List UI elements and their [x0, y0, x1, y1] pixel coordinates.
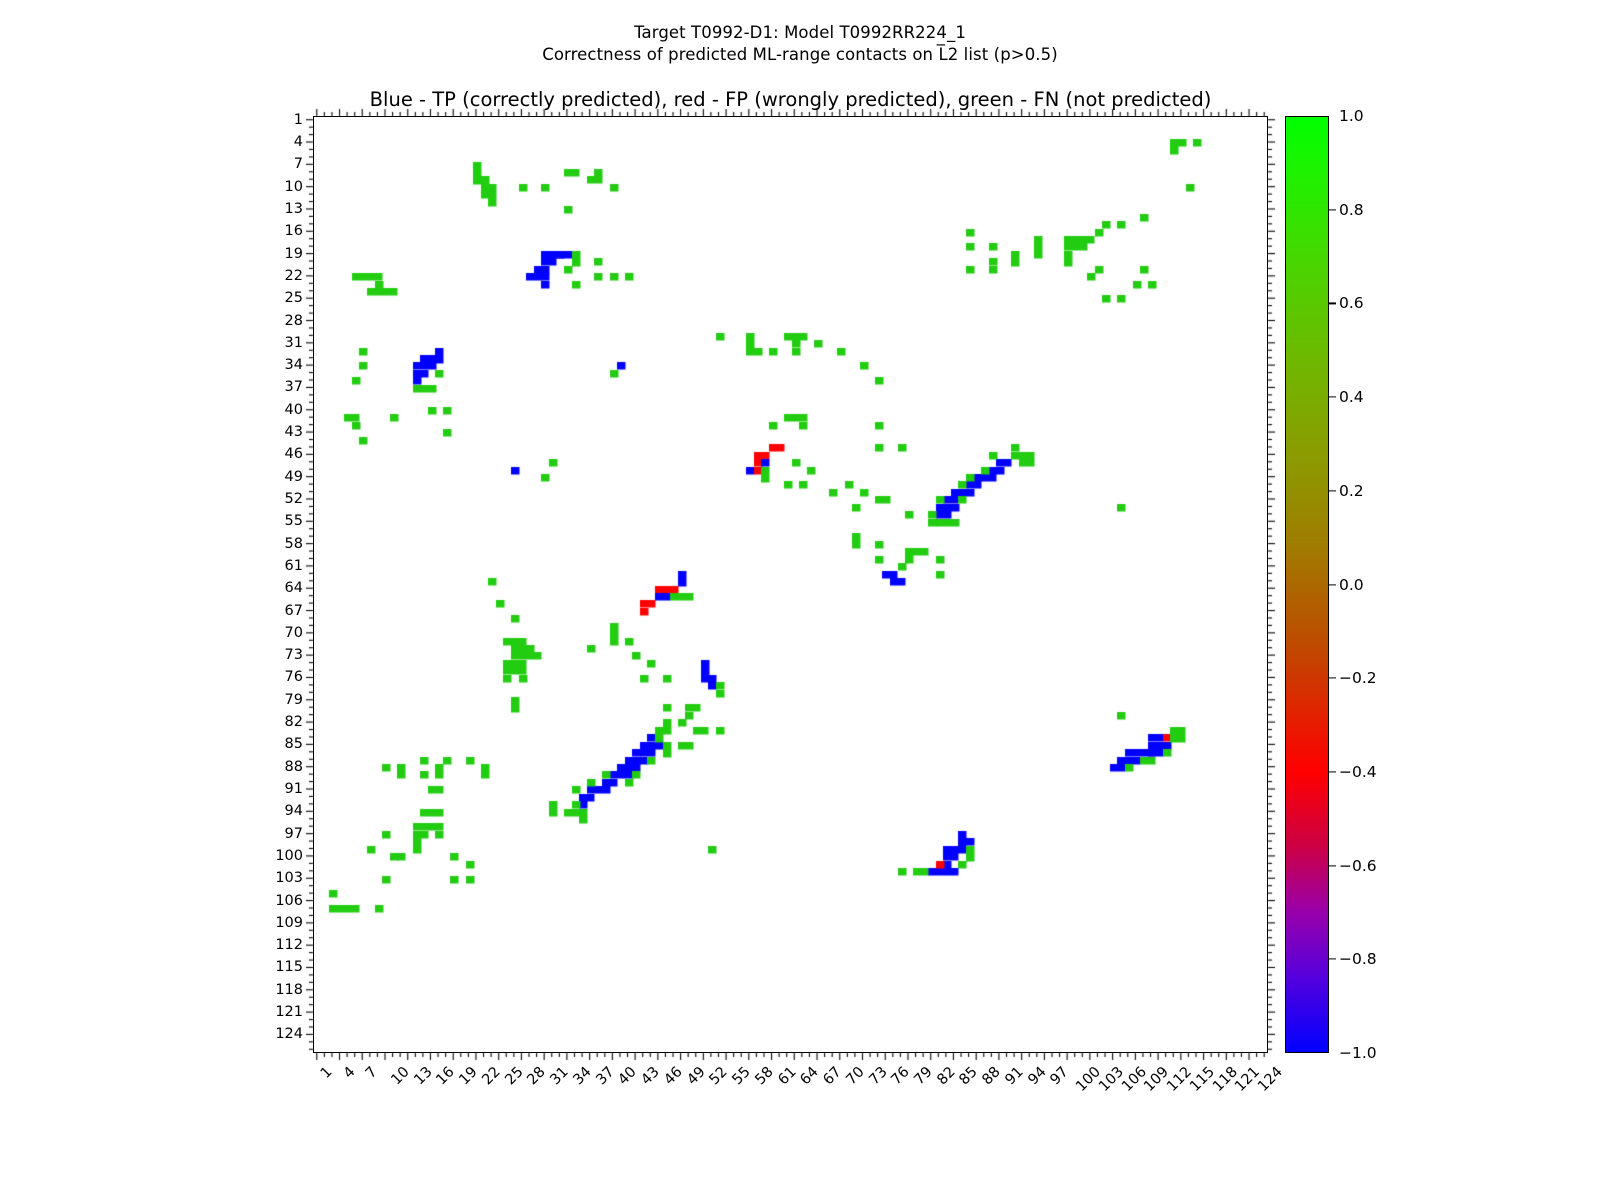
y-tick-label: 88: [285, 759, 303, 775]
colorbar-tick-mark: [1329, 209, 1336, 210]
x-tick-label: 46: [661, 1064, 685, 1088]
x-tick-label: 1: [317, 1064, 335, 1082]
colorbar-tick-mark: [1329, 397, 1336, 398]
x-tick-label: 49: [684, 1064, 708, 1088]
colorbar-tick-label: −0.6: [1339, 857, 1377, 875]
axes-legend-title: Blue - TP (correctly predicted), red - F…: [313, 88, 1268, 111]
x-tick-label: 55: [729, 1064, 753, 1088]
y-tick-label: 79: [285, 692, 303, 708]
y-tick-label: 4: [294, 134, 303, 150]
y-tick-label: 121: [275, 1004, 303, 1020]
x-tick-label: 61: [775, 1064, 799, 1088]
x-tick-label: 82: [934, 1064, 958, 1088]
y-tick-label: 7: [294, 156, 303, 172]
y-tick-label: 40: [285, 402, 303, 418]
x-tick-label: 52: [707, 1064, 731, 1088]
colorbar-tick-label: 1.0: [1339, 107, 1364, 125]
colorbar-tick-mark: [1329, 303, 1336, 304]
x-tick-label: 88: [980, 1064, 1004, 1088]
x-tick-label: 58: [752, 1064, 776, 1088]
y-tick-label: 82: [285, 714, 303, 730]
y-tick-label: 64: [285, 580, 303, 596]
x-tick-label: 28: [525, 1064, 549, 1088]
x-tick-label: 79: [911, 1064, 935, 1088]
y-tick-label: 58: [285, 536, 303, 552]
x-tick-label: 7: [363, 1064, 381, 1082]
x-tick-label: 76: [889, 1064, 913, 1088]
x-tick-label: 124: [1255, 1064, 1286, 1095]
y-tick-label: 103: [275, 870, 303, 886]
x-tick-label: 91: [1002, 1064, 1026, 1088]
y-tick-label: 10: [285, 179, 303, 195]
y-tick-label: 55: [285, 513, 303, 529]
colorbar-tick-mark: [1329, 865, 1336, 866]
colorbar-tick-label: 0.8: [1339, 201, 1364, 219]
y-tick-label: 1: [294, 112, 303, 128]
contact-map-plot-area[interactable]: [313, 116, 1268, 1053]
x-tick-label: 97: [1048, 1064, 1072, 1088]
x-tick-label: 37: [593, 1064, 617, 1088]
colorbar-tick-mark: [1329, 959, 1336, 960]
x-tick-label: 70: [843, 1064, 867, 1088]
y-tick-label: 61: [285, 558, 303, 574]
colorbar-tick-mark: [1329, 584, 1336, 585]
x-tick-label: 19: [457, 1064, 481, 1088]
x-tick-label: 22: [479, 1064, 503, 1088]
y-tick-label: 100: [275, 848, 303, 864]
y-tick-label: 49: [285, 469, 303, 485]
y-tick-label: 73: [285, 647, 303, 663]
colorbar-tick-label: 0.4: [1339, 388, 1364, 406]
colorbar-tick-mark: [1329, 678, 1336, 679]
y-tick-label: 37: [285, 379, 303, 395]
y-tick-label: 34: [285, 357, 303, 373]
y-tick-label: 115: [275, 959, 303, 975]
contact-map-canvas[interactable]: [314, 117, 1269, 1054]
y-tick-label: 28: [285, 313, 303, 329]
colorbar: [1285, 116, 1329, 1053]
x-tick-label: 34: [570, 1064, 594, 1088]
x-tick-label: 31: [548, 1064, 572, 1088]
colorbar-tick-label: 0.0: [1339, 576, 1364, 594]
y-tick-label: 16: [285, 223, 303, 239]
colorbar-tick-mark: [1329, 490, 1336, 491]
figure-title: Target T0992-D1: Model T0992RR224_1 Corr…: [0, 22, 1600, 66]
y-tick-label: 22: [285, 268, 303, 284]
x-tick-label: 16: [434, 1064, 458, 1088]
y-tick-label: 118: [275, 982, 303, 998]
y-tick-label: 109: [275, 915, 303, 931]
x-tick-label: 94: [1025, 1064, 1049, 1088]
y-tick-label: 13: [285, 201, 303, 217]
x-tick-label: 73: [866, 1064, 890, 1088]
colorbar-tick-label: −1.0: [1339, 1044, 1377, 1062]
y-tick-label: 124: [275, 1026, 303, 1042]
x-tick-label: 13: [411, 1064, 435, 1088]
y-tick-label: 43: [285, 424, 303, 440]
colorbar-tick-label: −0.2: [1339, 669, 1377, 687]
y-tick-label: 94: [285, 803, 303, 819]
y-tick-label: 19: [285, 246, 303, 262]
title-line-2: Correctness of predicted ML-range contac…: [0, 44, 1600, 66]
y-tick-label: 46: [285, 446, 303, 462]
title-line-1: Target T0992-D1: Model T0992RR224_1: [0, 22, 1600, 44]
y-tick-label: 25: [285, 290, 303, 306]
colorbar-tick-label: 0.6: [1339, 294, 1364, 312]
x-tick-label: 64: [798, 1064, 822, 1088]
x-tick-label: 4: [340, 1064, 358, 1082]
y-tick-label: 67: [285, 603, 303, 619]
y-tick-label: 52: [285, 491, 303, 507]
y-tick-label: 85: [285, 736, 303, 752]
y-tick-label: 106: [275, 893, 303, 909]
y-tick-label: 97: [285, 826, 303, 842]
contact-map-figure: Target T0992-D1: Model T0992RR224_1 Corr…: [0, 0, 1600, 1200]
colorbar-tick-label: 0.2: [1339, 482, 1364, 500]
y-tick-label: 112: [275, 937, 303, 953]
y-tick-label: 70: [285, 625, 303, 641]
x-tick-label: 43: [639, 1064, 663, 1088]
y-tick-label: 91: [285, 781, 303, 797]
y-tick-label: 31: [285, 335, 303, 351]
x-tick-label: 25: [502, 1064, 526, 1088]
x-tick-label: 10: [388, 1064, 412, 1088]
x-tick-label: 67: [820, 1064, 844, 1088]
y-tick-label: 76: [285, 669, 303, 685]
x-tick-label: 40: [616, 1064, 640, 1088]
x-tick-label: 85: [957, 1064, 981, 1088]
colorbar-tick-label: −0.4: [1339, 763, 1377, 781]
colorbar-tick-label: −0.8: [1339, 950, 1377, 968]
colorbar-tick-mark: [1329, 771, 1336, 772]
